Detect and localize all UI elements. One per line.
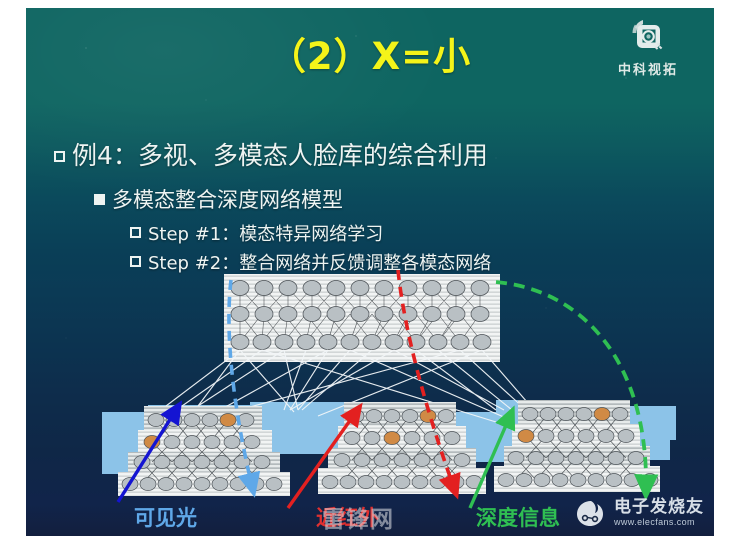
fusion-node-row-middle xyxy=(231,307,489,322)
hollow-square-bullet-icon xyxy=(130,256,141,267)
bullet-item-1: 例4：多视、多模态人脸库的综合利用 xyxy=(54,136,488,172)
camera-lens-icon xyxy=(600,14,696,58)
elecfans-url: www.elecfans.com xyxy=(614,518,704,527)
modality-label-depth-information: 深度信息 xyxy=(476,502,560,532)
elecfans-watermark: 电子发烧友 www.elecfans.com xyxy=(575,498,704,528)
modality-label-visible-light: 可见光 xyxy=(134,502,197,532)
bullet-item-2: 多模态整合深度网络模型 xyxy=(94,184,343,214)
hollow-square-bullet-icon xyxy=(54,151,65,162)
brand-logo: 中科视拓 xyxy=(600,14,696,78)
hollow-square-bullet-icon xyxy=(130,227,141,238)
solid-square-bullet-icon xyxy=(94,194,105,205)
leifeng-watermark: 雷锋网 xyxy=(322,500,394,534)
bullet-item-2-label: 多模态整合深度网络模型 xyxy=(112,188,343,212)
fusion-network-block xyxy=(224,274,500,362)
elecfans-name: 电子发烧友 xyxy=(614,499,704,516)
bullet-item-step-1-label: Step #1：模态特异网络学习 xyxy=(148,224,383,245)
bullet-item-1-label: 例4：多视、多模态人脸库的综合利用 xyxy=(72,141,488,170)
bullet-item-step-1: Step #1：模态特异网络学习 xyxy=(130,220,383,246)
elecfans-logo-icon xyxy=(575,498,609,528)
multimodal-network-diagram xyxy=(26,270,714,536)
slide-canvas: （2）X=小 中科视拓 例 xyxy=(26,8,714,536)
brand-name: 中科视拓 xyxy=(600,59,696,78)
fusion-node-row-top xyxy=(231,281,489,296)
